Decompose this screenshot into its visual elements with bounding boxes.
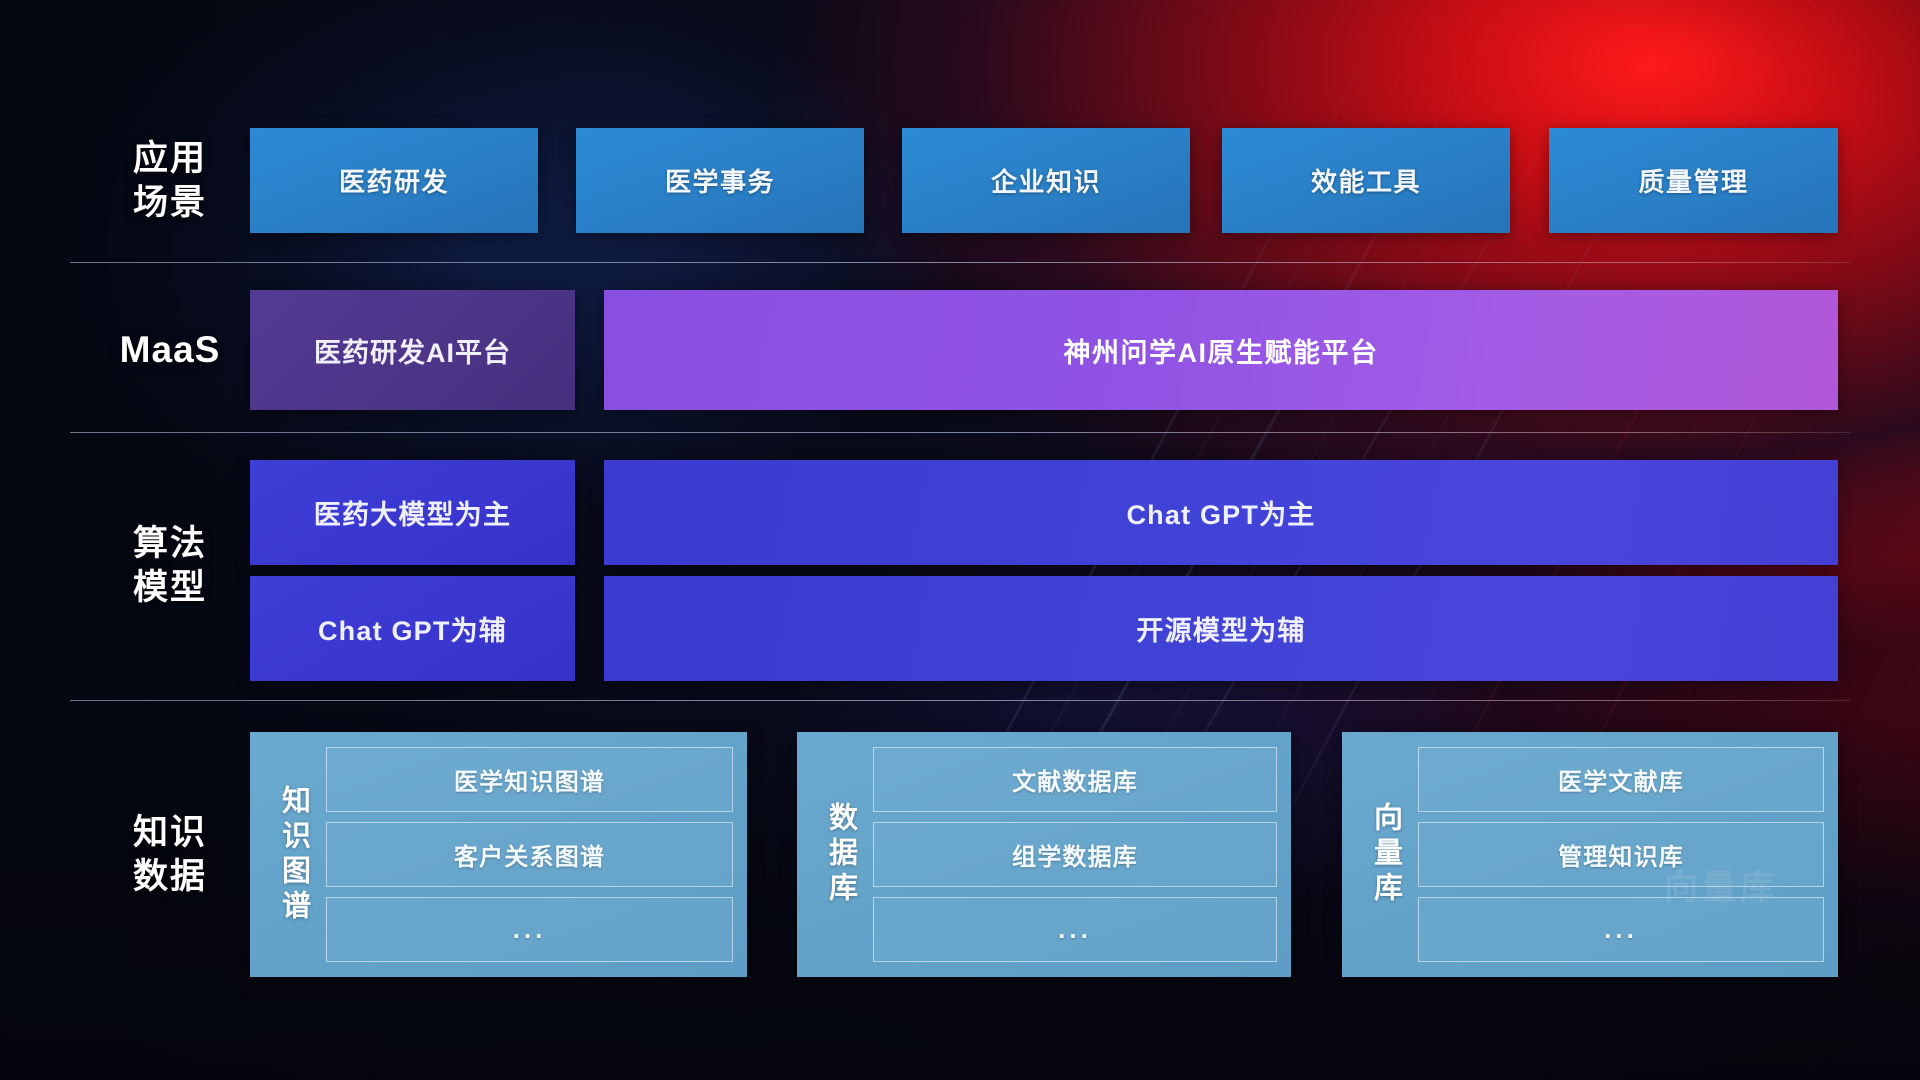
app-box-3[interactable]: 企业知识	[902, 128, 1190, 233]
knowledge-item-graph-label-2: 客户关系图谱	[454, 837, 605, 872]
row-label-line-2: 场景	[95, 181, 245, 225]
knowledge-item-vector-label-2: 管理知识库	[1558, 837, 1684, 872]
app-box-2[interactable]: 医学事务	[576, 128, 864, 233]
knowledge-item-graph-label-1: 医学知识图谱	[454, 762, 605, 797]
knowledge-item-vector-label-1: 医学文献库	[1558, 762, 1684, 797]
knowledge-panel-graph-title: 知识图谱	[279, 785, 308, 925]
row-label-algo-line-2: 模型	[95, 566, 245, 610]
knowledge-item-graph-2[interactable]: 客户关系图谱	[326, 822, 733, 887]
knowledge-item-database-3[interactable]: ...	[873, 897, 1277, 962]
knowledge-panel-database[interactable]: 数据库 文献数据库 组学数据库 ...	[797, 732, 1291, 977]
row-algorithm-models: 算法 模型 医药大模型为主 Chat GPT为主 Chat GPT为辅 开源模型…	[0, 460, 1920, 680]
row-label-knowledge-data: 知识 数据	[95, 811, 245, 899]
app-box-5[interactable]: 质量管理	[1549, 128, 1838, 233]
row-label-algorithm-models: 算法 模型	[95, 522, 245, 610]
divider-1	[70, 262, 1850, 263]
app-box-label-2: 医学事务	[665, 162, 775, 199]
maas-left-label: 医药研发AI平台	[314, 331, 511, 370]
row-label-maas-text: MaaS	[95, 328, 245, 372]
knowledge-panel-vector-title: 向量库	[1371, 802, 1400, 907]
algo-right-label-2: 开源模型为辅	[1136, 609, 1305, 648]
row-label-knowledge-line-1: 知识	[95, 811, 245, 855]
row-label-application-scenarios: 应用 场景	[95, 137, 245, 225]
knowledge-item-database-label-1: 文献数据库	[1012, 762, 1138, 797]
knowledge-item-database-label-2: 组学数据库	[1012, 837, 1138, 872]
algo-left-label-2: Chat GPT为辅	[318, 609, 507, 648]
knowledge-panel-database-title: 数据库	[826, 802, 855, 907]
knowledge-panel-graph-title-wrap: 知识图谱	[260, 745, 326, 964]
algo-right-box-2[interactable]: 开源模型为辅	[604, 576, 1838, 681]
knowledge-item-vector-3[interactable]: ...	[1418, 897, 1824, 962]
row-maas: MaaS 医药研发AI平台 神州问学AI原生赋能平台	[0, 290, 1920, 410]
app-box-4[interactable]: 效能工具	[1222, 128, 1510, 233]
knowledge-panel-vector[interactable]: 向量库 医学文献库 管理知识库 ... 向量库	[1342, 732, 1838, 977]
row-label-knowledge-line-2: 数据	[95, 855, 245, 899]
knowledge-item-database-2[interactable]: 组学数据库	[873, 822, 1277, 887]
maas-left-box[interactable]: 医药研发AI平台	[250, 290, 575, 410]
app-box-label-3: 企业知识	[991, 162, 1101, 199]
maas-right-label: 神州问学AI原生赋能平台	[1064, 331, 1379, 370]
divider-3	[70, 700, 1850, 701]
knowledge-panel-vector-title-wrap: 向量库	[1352, 745, 1418, 964]
knowledge-panel-database-items: 文献数据库 组学数据库 ...	[873, 745, 1277, 964]
knowledge-panel-vector-items: 医学文献库 管理知识库 ...	[1418, 745, 1824, 964]
divider-2	[70, 432, 1850, 433]
knowledge-item-vector-label-3: ...	[1604, 914, 1638, 945]
app-box-1[interactable]: 医药研发	[250, 128, 538, 233]
architecture-diagram: 应用 场景 医药研发 医学事务 企业知识 效能工具 质量管理 MaaS 医药研发…	[0, 0, 1920, 1080]
app-box-label-4: 效能工具	[1311, 162, 1421, 199]
row-label-maas: MaaS	[95, 328, 245, 372]
knowledge-item-database-label-3: ...	[1058, 914, 1092, 945]
knowledge-item-graph-label-3: ...	[513, 914, 547, 945]
knowledge-panel-graph[interactable]: 知识图谱 医学知识图谱 客户关系图谱 ...	[250, 732, 747, 977]
algo-right-label-1: Chat GPT为主	[1126, 493, 1315, 532]
knowledge-item-graph-3[interactable]: ...	[326, 897, 733, 962]
row-knowledge-data: 知识 数据 知识图谱 医学知识图谱 客户关系图谱 ...	[0, 732, 1920, 977]
knowledge-item-graph-1[interactable]: 医学知识图谱	[326, 747, 733, 812]
algo-right-box-1[interactable]: Chat GPT为主	[604, 460, 1838, 565]
row-application-scenarios: 应用 场景 医药研发 医学事务 企业知识 效能工具 质量管理	[0, 128, 1920, 233]
row-label-line-1: 应用	[95, 137, 245, 181]
knowledge-item-vector-2[interactable]: 管理知识库	[1418, 822, 1824, 887]
knowledge-panel-graph-items: 医学知识图谱 客户关系图谱 ...	[326, 745, 733, 964]
algo-left-box-1[interactable]: 医药大模型为主	[250, 460, 575, 565]
app-box-label-5: 质量管理	[1638, 162, 1748, 199]
algo-left-label-1: 医药大模型为主	[314, 493, 511, 532]
knowledge-item-database-1[interactable]: 文献数据库	[873, 747, 1277, 812]
maas-right-box[interactable]: 神州问学AI原生赋能平台	[604, 290, 1838, 410]
app-box-label-1: 医药研发	[339, 162, 449, 199]
knowledge-item-vector-1[interactable]: 医学文献库	[1418, 747, 1824, 812]
algo-left-box-2[interactable]: Chat GPT为辅	[250, 576, 575, 681]
knowledge-panel-database-title-wrap: 数据库	[807, 745, 873, 964]
row-label-algo-line-1: 算法	[95, 522, 245, 566]
